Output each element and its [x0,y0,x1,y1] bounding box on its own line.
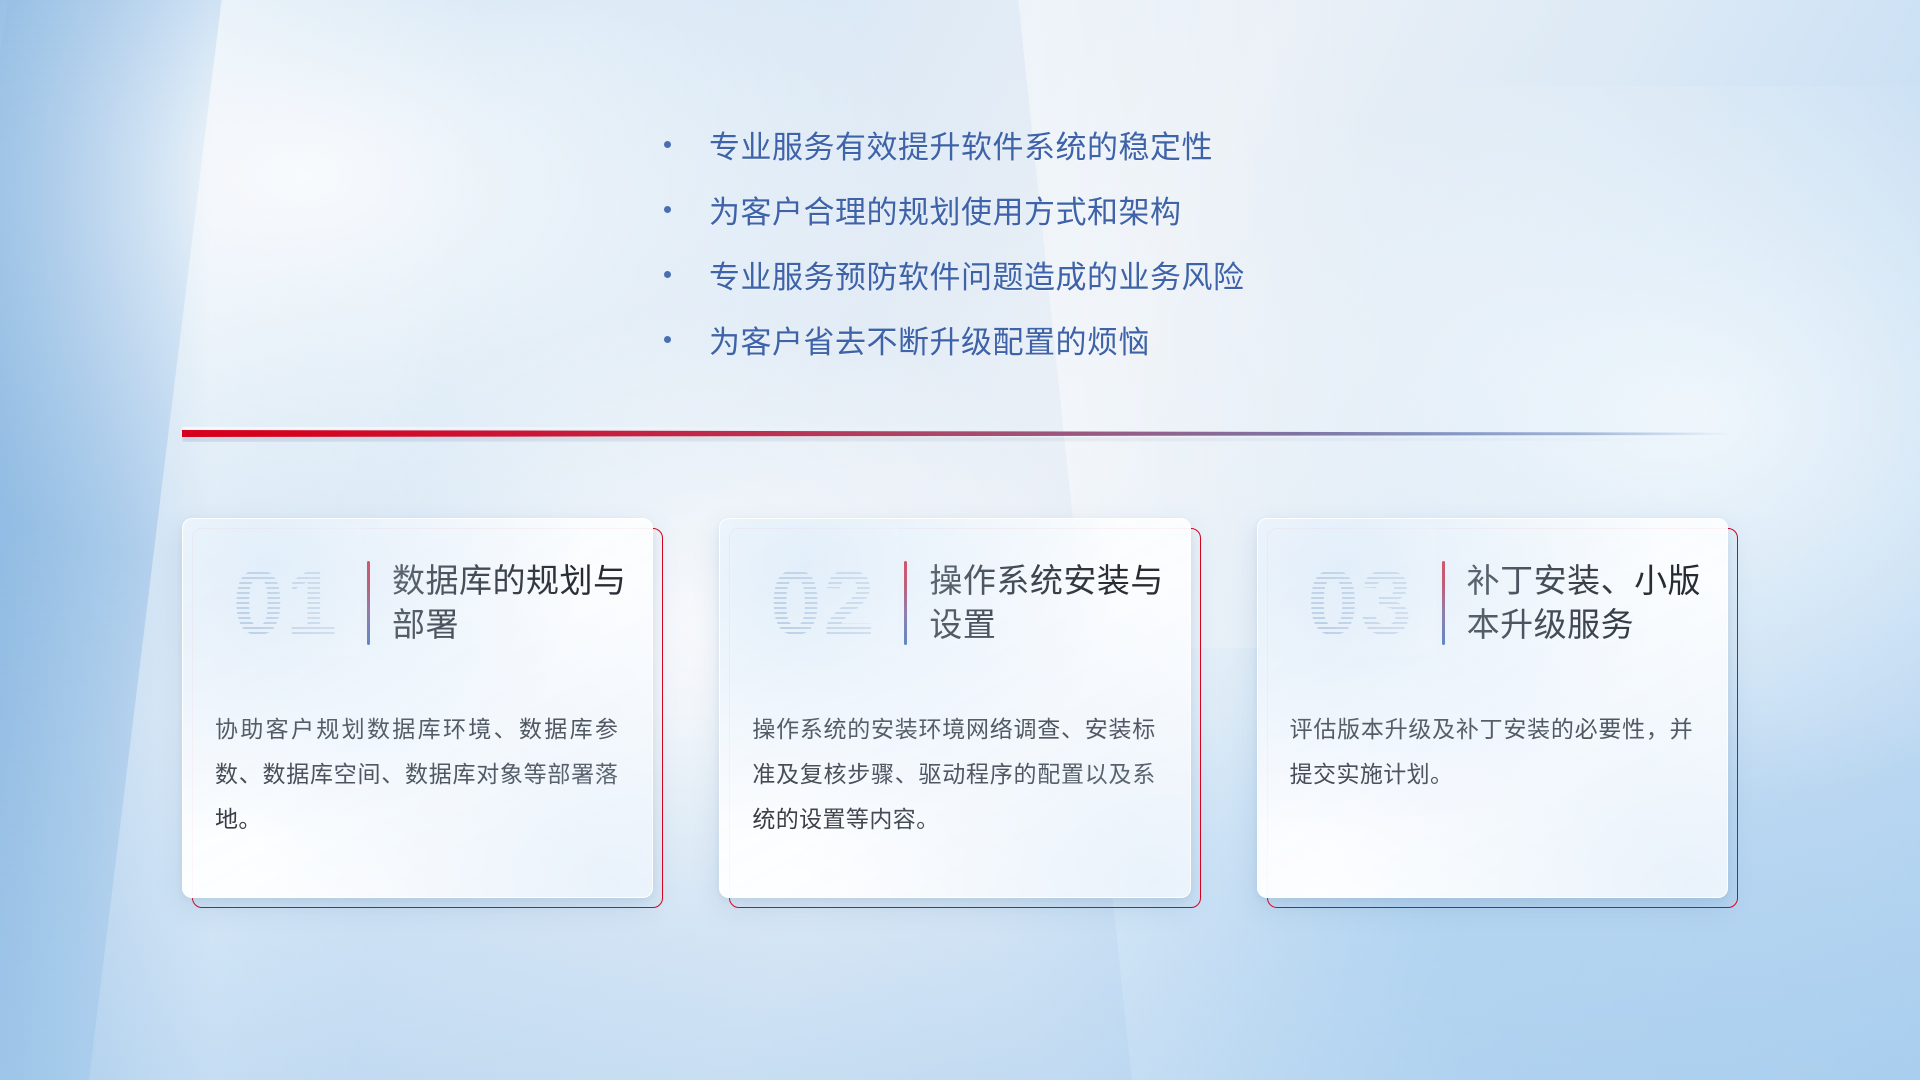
card-surface: 02 操作系统安装与设置 操作系统的安装环境网络调查、安装标准及复核步骤、驱动程… [719,518,1190,898]
card-header: 02 操作系统安装与设置 [720,535,1189,671]
service-card-02[interactable]: 02 操作系统安装与设置 操作系统的安装环境网络调查、安装标准及复核步骤、驱动程… [719,518,1200,908]
card-number-ghost: 02 [748,557,898,649]
card-title-rule [904,561,907,645]
bullet-text: 专业服务有效提升软件系统的稳定性 [709,122,1213,167]
card-surface: 03 补丁安装、小版本升级服务 评估版本升级及补丁安装的必要性，并提交实施计划。 [1257,518,1728,898]
card-surface: 01 数据库的规划与部署 协助客户规划数据库环境、数据库参数、数据库空间、数据库… [182,518,653,898]
card-description: 协助客户规划数据库环境、数据库参数、数据库空间、数据库对象等部署落地。 [215,707,618,842]
card-title-rule [367,561,370,645]
divider-highlight [182,426,1730,430]
card-number-ghost: 03 [1286,557,1436,649]
divider-line [182,430,1730,437]
bullet-dot-icon [664,141,671,148]
service-card-03[interactable]: 03 补丁安装、小版本升级服务 评估版本升级及补丁安装的必要性，并提交实施计划。 [1257,518,1738,908]
benefits-bullet-list: 专业服务有效提升软件系统的稳定性 为客户合理的规划使用方式和架构 专业服务预防软… [664,112,1245,371]
card-description: 评估版本升级及补丁安装的必要性，并提交实施计划。 [1290,707,1693,797]
bullet-dot-icon [664,271,671,278]
service-card-list: 01 数据库的规划与部署 协助客户规划数据库环境、数据库参数、数据库空间、数据库… [182,518,1738,918]
bullet-text: 为客户合理的规划使用方式和架构 [709,187,1182,232]
card-title-rule [1442,561,1445,645]
list-item: 为客户省去不断升级配置的烦恼 [664,307,1245,371]
bullet-dot-icon [664,336,671,343]
card-description: 操作系统的安装环境网络调查、安装标准及复核步骤、驱动程序的配置以及系统的设置等内… [752,707,1155,842]
card-number-ghost: 01 [211,557,361,649]
card-header: 03 补丁安装、小版本升级服务 [1258,535,1727,671]
bullet-text: 为客户省去不断升级配置的烦恼 [709,317,1150,362]
bullet-text: 专业服务预防软件问题造成的业务风险 [709,252,1245,297]
list-item: 专业服务有效提升软件系统的稳定性 [664,112,1245,176]
list-item: 专业服务预防软件问题造成的业务风险 [664,242,1245,306]
card-title: 操作系统安装与设置 [929,559,1179,646]
card-header: 01 数据库的规划与部署 [183,535,652,671]
service-card-01[interactable]: 01 数据库的规划与部署 协助客户规划数据库环境、数据库参数、数据库空间、数据库… [182,518,663,908]
divider-shadow [182,436,1730,442]
card-title: 数据库的规划与部署 [392,559,642,646]
list-item: 为客户合理的规划使用方式和架构 [664,177,1245,241]
card-title: 补丁安装、小版本升级服务 [1467,559,1717,646]
section-divider [182,424,1730,446]
bullet-dot-icon [664,206,671,213]
